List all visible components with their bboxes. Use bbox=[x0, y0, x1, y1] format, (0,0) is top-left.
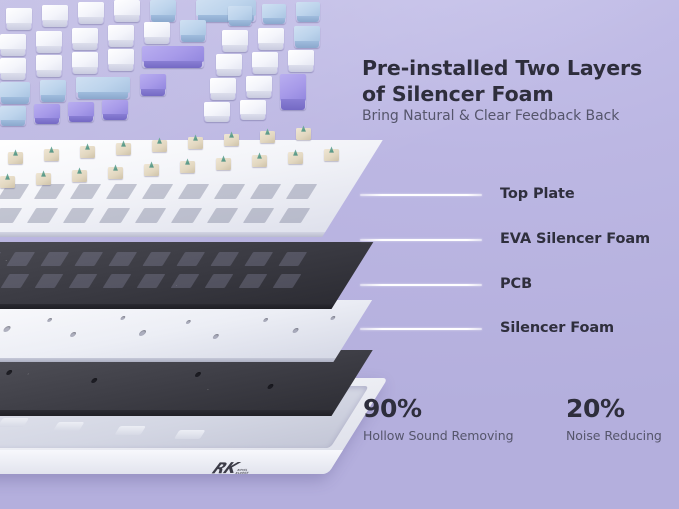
infographic-canvas: RK ROYAL KLUDGE Pre-installed Two Layers… bbox=[0, 0, 679, 509]
stat-noise-reducing: 20% Noise Reducing bbox=[566, 396, 662, 443]
stat-hollow-sound: 90% Hollow Sound Removing bbox=[363, 396, 514, 443]
callout-label: EVA Silencer Foam bbox=[500, 231, 650, 247]
callout-label: PCB bbox=[500, 276, 532, 292]
callout-top-plate: Top Plate bbox=[358, 186, 678, 204]
callout-eva-silencer-foam: EVA Silencer Foam bbox=[358, 231, 678, 249]
leader-line bbox=[360, 328, 482, 330]
callout-silencer-foam: Silencer Foam bbox=[358, 320, 678, 338]
stat-value: 90% bbox=[363, 396, 514, 421]
leader-line bbox=[360, 239, 482, 241]
stat-label: Hollow Sound Removing bbox=[363, 428, 514, 443]
title-line-1: Pre-installed Two Layers bbox=[362, 56, 674, 82]
title-line-2: of Silencer Foam bbox=[362, 82, 674, 108]
callout-label: Silencer Foam bbox=[500, 320, 614, 336]
callout-label: Top Plate bbox=[500, 186, 575, 202]
stat-value: 20% bbox=[566, 396, 662, 421]
leader-line bbox=[360, 284, 482, 286]
page-subtitle: Bring Natural & Clear Feedback Back bbox=[362, 108, 678, 124]
callout-pcb: PCB bbox=[358, 276, 678, 294]
stat-label: Noise Reducing bbox=[566, 428, 662, 443]
info-column: Pre-installed Two Layers of Silencer Foa… bbox=[0, 0, 679, 509]
page-title: Pre-installed Two Layers of Silencer Foa… bbox=[362, 56, 674, 108]
leader-line bbox=[360, 194, 482, 196]
